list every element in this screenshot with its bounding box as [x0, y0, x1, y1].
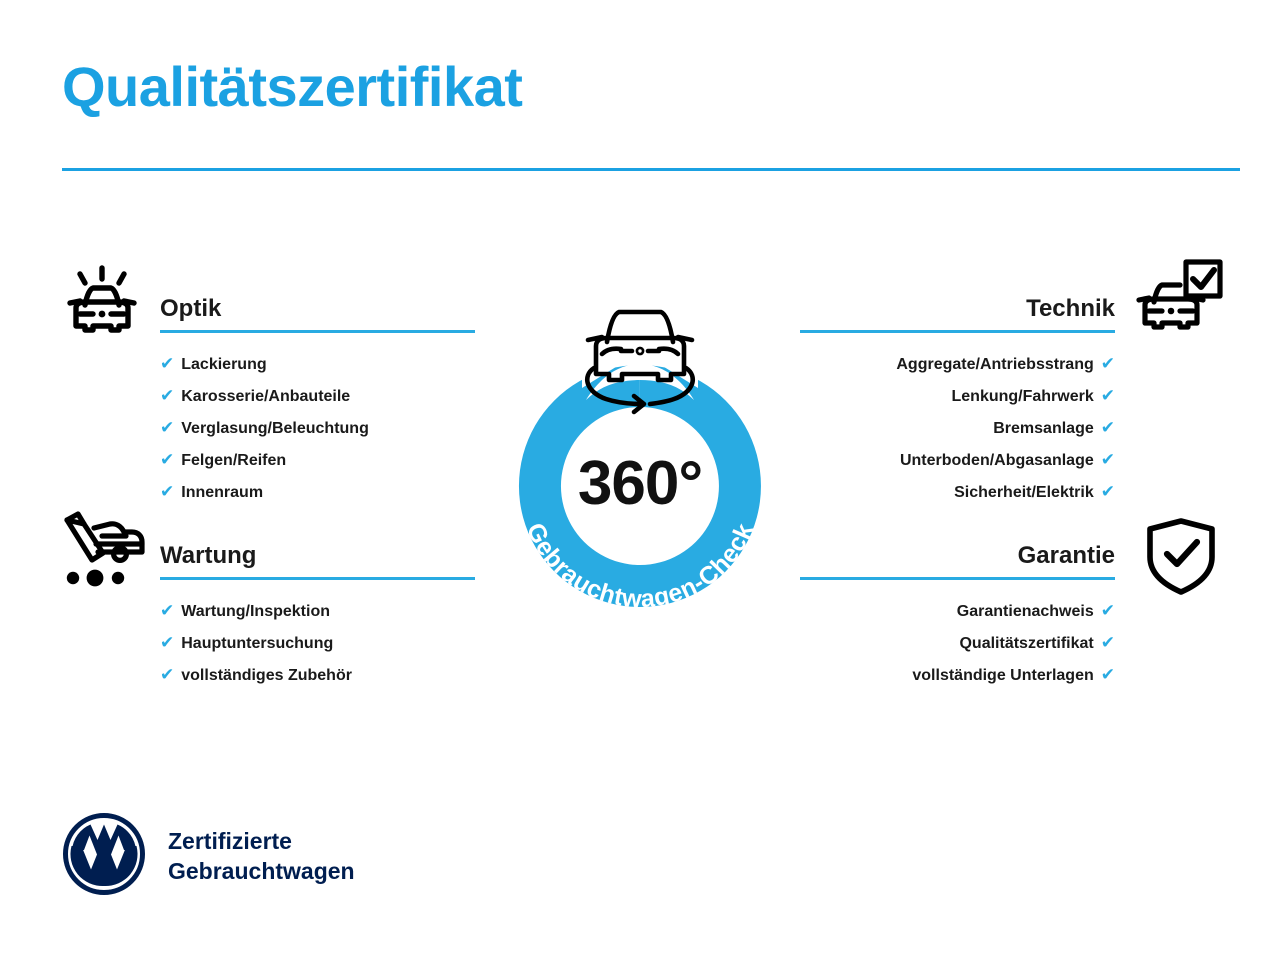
check-icon: ✔ [160, 634, 174, 651]
list-item-label: Bremsanlage [993, 421, 1094, 437]
list-item-label: vollständige Unterlagen [912, 668, 1093, 684]
section-optik: Optik ✔ Lackierung ✔ Karosserie/Anbautei… [160, 296, 475, 515]
check-icon: ✔ [1101, 419, 1115, 436]
list-item-label: Qualitätszertifikat [959, 636, 1093, 652]
check-icon: ✔ [1101, 602, 1115, 619]
check-icon: ✔ [160, 602, 174, 619]
check-icon: ✔ [1101, 666, 1115, 683]
section-list-wartung: ✔ Wartung/Inspektion ✔ Hauptuntersuchung… [160, 580, 475, 684]
brand-tagline-line2: Gebrauchtwagen [168, 858, 355, 884]
list-item-label: Felgen/Reifen [181, 453, 286, 469]
check-icon: ✔ [160, 419, 174, 436]
list-item: Bremsanlage ✔ [800, 419, 1115, 437]
certificate-page: Qualitätszertifikat [0, 0, 1280, 960]
list-item: Unterboden/Abgasanlage ✔ [800, 451, 1115, 469]
list-item: ✔ Lackierung [160, 355, 475, 373]
car-service-tool-icon [58, 508, 150, 593]
list-item: Lenkung/Fahrwerk ✔ [800, 387, 1115, 405]
list-item: ✔ Wartung/Inspektion [160, 602, 475, 620]
list-item-label: Wartung/Inspektion [181, 604, 330, 620]
list-item: ✔ Verglasung/Beleuchtung [160, 419, 475, 437]
list-item: ✔ Hauptuntersuchung [160, 634, 475, 652]
list-item: ✔ Karosserie/Anbauteile [160, 387, 475, 405]
list-item-label: Sicherheit/Elektrik [954, 485, 1094, 501]
section-list-technik: Aggregate/Antriebsstrang ✔ Lenkung/Fahrw… [800, 333, 1115, 501]
check-icon: ✔ [1101, 451, 1115, 468]
section-heading-optik: Optik [160, 296, 475, 330]
list-item: Aggregate/Antriebsstrang ✔ [800, 355, 1115, 373]
shield-check-icon [1144, 516, 1218, 601]
check-icon: ✔ [160, 355, 174, 372]
check-icon: ✔ [160, 483, 174, 500]
list-item: vollständige Unterlagen ✔ [800, 666, 1115, 684]
section-list-optik: ✔ Lackierung ✔ Karosserie/Anbauteile ✔ V… [160, 333, 475, 501]
check-icon: ✔ [160, 451, 174, 468]
section-technik: Technik Aggregate/Antriebsstrang ✔ Lenku… [800, 296, 1115, 515]
brand-tagline: ZertifizierteGebrauchtwagen [168, 827, 355, 886]
list-item-label: Lenkung/Fahrwerk [952, 389, 1094, 405]
section-garantie: Garantie Garantienachweis ✔ Qualitätszer… [800, 543, 1115, 698]
title-divider [62, 168, 1240, 171]
check-icon: ✔ [1101, 483, 1115, 500]
list-item-label: Innenraum [181, 485, 263, 501]
check-icon: ✔ [1101, 355, 1115, 372]
check-icon: ✔ [1101, 634, 1115, 651]
list-item: ✔ Felgen/Reifen [160, 451, 475, 469]
list-item: ✔ Innenraum [160, 483, 475, 501]
list-item-label: vollständiges Zubehör [181, 668, 352, 684]
section-wartung: Wartung ✔ Wartung/Inspektion ✔ Hauptunte… [160, 543, 475, 698]
check-icon: ✔ [160, 666, 174, 683]
brand-tagline-line1: Zertifizierte [168, 828, 292, 854]
section-heading-garantie: Garantie [800, 543, 1115, 577]
badge-center-label: 360° [458, 453, 822, 515]
list-item-label: Lackierung [181, 357, 266, 373]
section-heading-technik: Technik [800, 296, 1115, 330]
list-item-label: Unterboden/Abgasanlage [900, 453, 1094, 469]
list-item: Qualitätszertifikat ✔ [800, 634, 1115, 652]
footer-brand: ZertifizierteGebrauchtwagen [62, 812, 355, 901]
check-icon: ✔ [1101, 387, 1115, 404]
list-item: Garantienachweis ✔ [800, 602, 1115, 620]
car-shine-icon [60, 258, 144, 347]
list-item-label: Verglasung/Beleuchtung [181, 421, 369, 437]
list-item-label: Garantienachweis [957, 604, 1094, 620]
page-title: Qualitätszertifikat [62, 58, 522, 117]
volkswagen-logo [62, 812, 146, 901]
list-item-label: Hauptuntersuchung [181, 636, 333, 652]
check-icon: ✔ [160, 387, 174, 404]
section-list-garantie: Garantienachweis ✔ Qualitätszertifikat ✔… [800, 580, 1115, 684]
list-item: Sicherheit/Elektrik ✔ [800, 483, 1115, 501]
car-checkbox-icon [1136, 258, 1224, 347]
list-item-label: Aggregate/Antriebsstrang [896, 357, 1093, 373]
gebrauchtwagen-check-badge: Gebrauchtwagen-Check [458, 248, 822, 632]
section-heading-wartung: Wartung [160, 543, 475, 577]
list-item: ✔ vollständiges Zubehör [160, 666, 475, 684]
list-item-label: Karosserie/Anbauteile [181, 389, 350, 405]
